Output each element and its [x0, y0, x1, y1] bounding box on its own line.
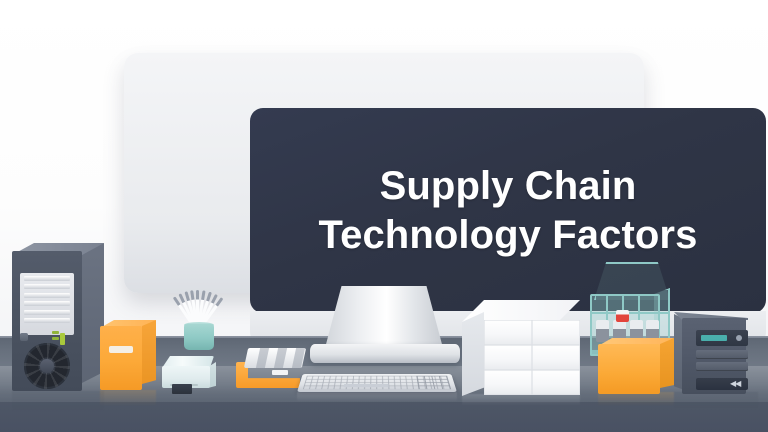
box-face [484, 345, 532, 370]
monitor-screen: Supply Chain Technology Factors [250, 108, 766, 313]
monitor-stand-neck [325, 286, 443, 348]
orange-stapler [236, 348, 308, 392]
box-label [109, 346, 133, 353]
box-face [484, 370, 532, 395]
desk-front-edge [0, 402, 768, 432]
power-button-icon[interactable] [20, 333, 28, 341]
orange-box-right [598, 338, 674, 394]
nas-power-icon[interactable] [736, 335, 742, 341]
keyboard-spacebar [344, 384, 389, 387]
orange-box-left [100, 320, 156, 390]
screen-title: Supply Chain Technology Factors [293, 162, 724, 260]
pen-cup-group [176, 288, 220, 340]
white-box-stack [462, 300, 580, 396]
status-led-icon [52, 337, 59, 340]
nas-server: ◀◀ [674, 312, 758, 394]
nas-drive-bay [696, 362, 748, 371]
nas-drive-bay [696, 350, 748, 359]
screen-title-line-1: Supply Chain [319, 162, 698, 211]
pc-tower-fan [24, 343, 70, 389]
box-face [532, 345, 580, 370]
pc-tower-front [12, 251, 82, 391]
monitor: Supply Chain Technology Factors [124, 53, 644, 293]
fan-hub [40, 359, 54, 373]
nas-display [696, 330, 748, 346]
basket-rail [590, 312, 668, 314]
pc-tower-vents [20, 273, 74, 335]
box-face [532, 370, 580, 395]
basket-item-accent [616, 310, 629, 322]
desktop-printer [160, 356, 216, 392]
keyboard[interactable] [297, 374, 457, 392]
rewind-icon[interactable]: ◀◀ [730, 380, 740, 388]
screen-title-line-2: Technology Factors [319, 211, 698, 260]
monitor-stand-base [310, 344, 460, 363]
pc-tower [12, 243, 104, 391]
printer-tray [172, 384, 192, 394]
nas-front-panel: ◀◀ [682, 318, 746, 394]
box-face [484, 320, 532, 345]
nas-control-strip: ◀◀ [696, 378, 748, 390]
status-led-icon [52, 331, 59, 334]
box-side-face [462, 312, 484, 396]
pen-cup [184, 324, 214, 350]
box-face [532, 320, 580, 345]
keyboard-numpad [416, 376, 451, 389]
nas-lcd-icon [701, 335, 727, 341]
desk-scene: Supply Chain Technology Factors [0, 0, 768, 432]
power-led-icon [60, 333, 65, 345]
